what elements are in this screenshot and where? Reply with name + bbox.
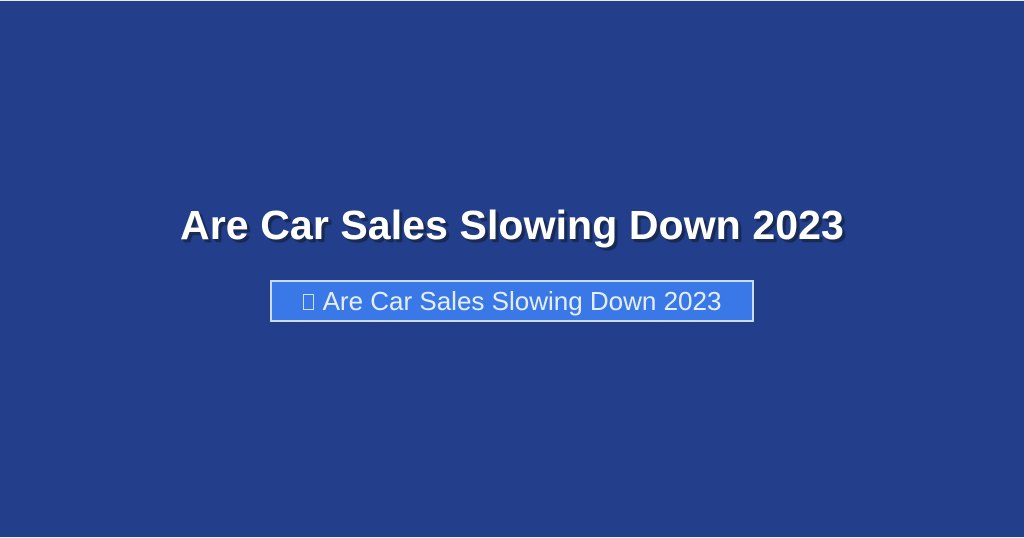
content-column: Are Car Sales Slowing Down 2023 Are Car … bbox=[0, 1, 1024, 538]
missing-glyph-box-icon bbox=[303, 294, 314, 310]
title-chip-label: Are Car Sales Slowing Down 2023 bbox=[323, 286, 722, 316]
page-title: Are Car Sales Slowing Down 2023 bbox=[0, 199, 1024, 251]
page-canvas: Are Car Sales Slowing Down 2023 Are Car … bbox=[0, 0, 1024, 538]
title-chip-button[interactable]: Are Car Sales Slowing Down 2023 bbox=[270, 280, 754, 322]
